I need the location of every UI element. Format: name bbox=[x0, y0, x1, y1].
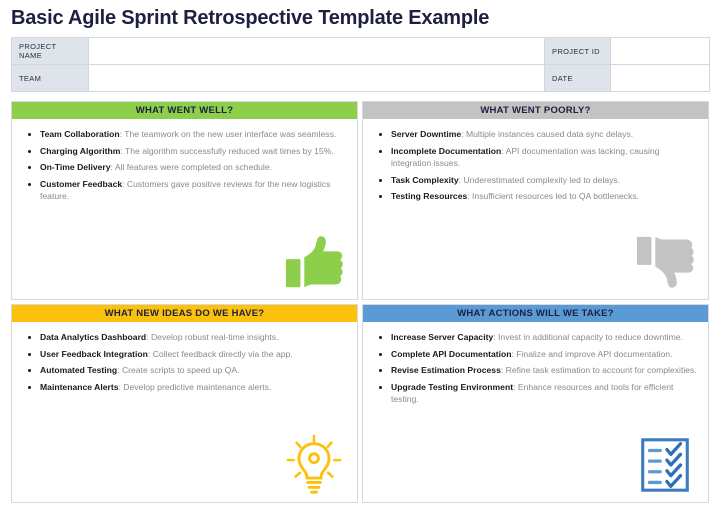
quadrant-body-what-went-poorly: Server Downtime: Multiple instances caus… bbox=[363, 119, 708, 299]
list-item-text: : Create scripts to speed up QA. bbox=[117, 365, 239, 375]
list-item-term: Charging Algorithm bbox=[40, 146, 120, 156]
lightbulb-icon bbox=[283, 434, 345, 496]
list-item: User Feedback Integration: Collect feedb… bbox=[22, 348, 347, 361]
quadrant-what-new-ideas-do-we-have: WHAT NEW IDEAS DO WE HAVE? Data Analytic… bbox=[11, 304, 358, 503]
bullet-list-what-new-ideas-do-we-have: Data Analytics Dashboard: Develop robust… bbox=[22, 331, 347, 393]
project-info-table: PROJECT NAME PROJECT ID TEAM DATE bbox=[11, 37, 710, 92]
list-item: On-Time Delivery: All features were comp… bbox=[22, 161, 347, 174]
list-item: Customer Feedback: Customers gave positi… bbox=[22, 178, 347, 203]
retrospective-quadrant-grid: WHAT WENT WELL? Team Collaboration: The … bbox=[11, 101, 709, 503]
list-item: Server Downtime: Multiple instances caus… bbox=[373, 128, 698, 141]
list-item-term: On-Time Delivery bbox=[40, 162, 111, 172]
list-item: Charging Algorithm: The algorithm succes… bbox=[22, 145, 347, 158]
list-item-term: Incomplete Documentation bbox=[391, 146, 501, 156]
bullet-list-what-went-poorly: Server Downtime: Multiple instances caus… bbox=[373, 128, 698, 203]
bullet-list-what-actions-will-we-take: Increase Server Capacity: Invest in addi… bbox=[373, 331, 698, 406]
list-item-term: Maintenance Alerts bbox=[40, 382, 118, 392]
list-item-text: : Collect feedback directly via the app. bbox=[148, 349, 293, 359]
project-id-field[interactable] bbox=[611, 38, 710, 65]
list-item-text: : Invest in additional capacity to reduc… bbox=[493, 332, 683, 342]
list-item-term: User Feedback Integration bbox=[40, 349, 148, 359]
retrospective-template-page: Basic Agile Sprint Retrospective Templat… bbox=[0, 0, 720, 527]
list-item: Upgrade Testing Environment: Enhance res… bbox=[373, 381, 698, 406]
list-item: Maintenance Alerts: Develop predictive m… bbox=[22, 381, 347, 394]
quadrant-header-what-went-poorly: WHAT WENT POORLY? bbox=[363, 102, 708, 119]
project-id-label: PROJECT ID bbox=[545, 38, 611, 65]
bullet-list-what-went-well: Team Collaboration: The teamwork on the … bbox=[22, 128, 347, 203]
checklist-icon bbox=[634, 434, 696, 496]
list-item-text: : Multiple instances caused data sync de… bbox=[461, 129, 633, 139]
quadrant-what-went-well: WHAT WENT WELL? Team Collaboration: The … bbox=[11, 101, 358, 300]
project-name-label: PROJECT NAME bbox=[12, 38, 89, 65]
list-item: Team Collaboration: The teamwork on the … bbox=[22, 128, 347, 141]
table-row: TEAM DATE bbox=[12, 65, 710, 92]
list-item-term: Increase Server Capacity bbox=[391, 332, 493, 342]
list-item-text: : Develop robust real-time insights. bbox=[146, 332, 278, 342]
list-item: Automated Testing: Create scripts to spe… bbox=[22, 364, 347, 377]
quadrant-body-what-actions-will-we-take: Increase Server Capacity: Invest in addi… bbox=[363, 322, 708, 502]
list-item-text: : Underestimated complexity led to delay… bbox=[459, 175, 620, 185]
list-item: Incomplete Documentation: API documentat… bbox=[373, 145, 698, 170]
list-item-term: Task Complexity bbox=[391, 175, 459, 185]
quadrant-header-what-went-well: WHAT WENT WELL? bbox=[12, 102, 357, 119]
team-field[interactable] bbox=[89, 65, 545, 92]
quadrant-header-what-new-ideas-do-we-have: WHAT NEW IDEAS DO WE HAVE? bbox=[12, 305, 357, 322]
list-item-term: Server Downtime bbox=[391, 129, 461, 139]
project-name-field[interactable] bbox=[89, 38, 545, 65]
table-row: PROJECT NAME PROJECT ID bbox=[12, 38, 710, 65]
quadrant-what-went-poorly: WHAT WENT POORLY? Server Downtime: Multi… bbox=[362, 101, 709, 300]
team-label: TEAM bbox=[12, 65, 89, 92]
quadrant-body-what-new-ideas-do-we-have: Data Analytics Dashboard: Develop robust… bbox=[12, 322, 357, 502]
list-item-term: Revise Estimation Process bbox=[391, 365, 501, 375]
list-item: Revise Estimation Process: Refine task e… bbox=[373, 364, 698, 377]
list-item-term: Testing Resources bbox=[391, 191, 467, 201]
list-item-term: Upgrade Testing Environment bbox=[391, 382, 513, 392]
thumbs-up-icon bbox=[283, 231, 345, 293]
list-item-term: Complete API Documentation bbox=[391, 349, 511, 359]
page-title: Basic Agile Sprint Retrospective Templat… bbox=[0, 0, 720, 31]
list-item-text: : The algorithm successfully reduced wai… bbox=[120, 146, 333, 156]
list-item-text: : All features were completed on schedul… bbox=[111, 162, 272, 172]
list-item: Increase Server Capacity: Invest in addi… bbox=[373, 331, 698, 344]
list-item-text: : Finalize and improve API documentation… bbox=[511, 349, 672, 359]
list-item: Complete API Documentation: Finalize and… bbox=[373, 348, 698, 361]
list-item-text: : Insufficient resources led to QA bottl… bbox=[467, 191, 639, 201]
list-item-text: : Develop predictive maintenance alerts. bbox=[118, 382, 271, 392]
quadrant-what-actions-will-we-take: WHAT ACTIONS WILL WE TAKE? Increase Serv… bbox=[362, 304, 709, 503]
list-item-term: Customer Feedback bbox=[40, 179, 122, 189]
date-label: DATE bbox=[545, 65, 611, 92]
list-item: Task Complexity: Underestimated complexi… bbox=[373, 174, 698, 187]
list-item-text: : Refine task estimation to account for … bbox=[501, 365, 697, 375]
quadrant-header-what-actions-will-we-take: WHAT ACTIONS WILL WE TAKE? bbox=[363, 305, 708, 322]
list-item-term: Team Collaboration bbox=[40, 129, 120, 139]
list-item-term: Data Analytics Dashboard bbox=[40, 332, 146, 342]
list-item: Testing Resources: Insufficient resource… bbox=[373, 190, 698, 203]
date-field[interactable] bbox=[611, 65, 710, 92]
list-item-text: : The teamwork on the new user interface… bbox=[120, 129, 337, 139]
list-item: Data Analytics Dashboard: Develop robust… bbox=[22, 331, 347, 344]
list-item-term: Automated Testing bbox=[40, 365, 117, 375]
thumbs-down-icon bbox=[634, 231, 696, 293]
quadrant-body-what-went-well: Team Collaboration: The teamwork on the … bbox=[12, 119, 357, 299]
